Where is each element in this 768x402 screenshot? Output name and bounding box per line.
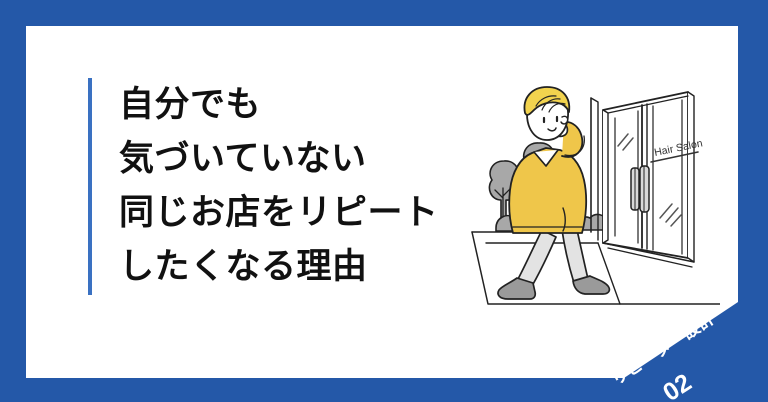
slide-card: 自分でも 気づいていない 同じお店をリピート したくなる理由 <box>26 26 738 378</box>
glass-door-icon: Hair Salon <box>603 92 704 267</box>
accent-bar <box>88 78 92 295</box>
headline-line-4: したくなる理由 <box>119 240 439 294</box>
shoe-icon <box>573 276 609 294</box>
slide-root: 自分でも 気づいていない 同じお店をリピート したくなる理由 <box>0 0 768 402</box>
headline-line-2: 気づいていない <box>119 132 439 186</box>
shoe-icon <box>498 278 535 299</box>
headline-line-1: 自分でも <box>119 78 439 132</box>
door-handle-icon <box>631 166 649 212</box>
headline-line-3: 同じお店をリピート <box>119 186 439 240</box>
headline-text: 自分でも 気づいていない 同じお店をリピート したくなる理由 <box>119 78 439 295</box>
headline-block: 自分でも 気づいていない 同じお店をリピート したくなる理由 <box>88 78 439 295</box>
illustration-hair-salon-scene: Hair Salon <box>470 80 720 308</box>
head-icon <box>524 87 569 140</box>
person-figure <box>498 87 609 299</box>
